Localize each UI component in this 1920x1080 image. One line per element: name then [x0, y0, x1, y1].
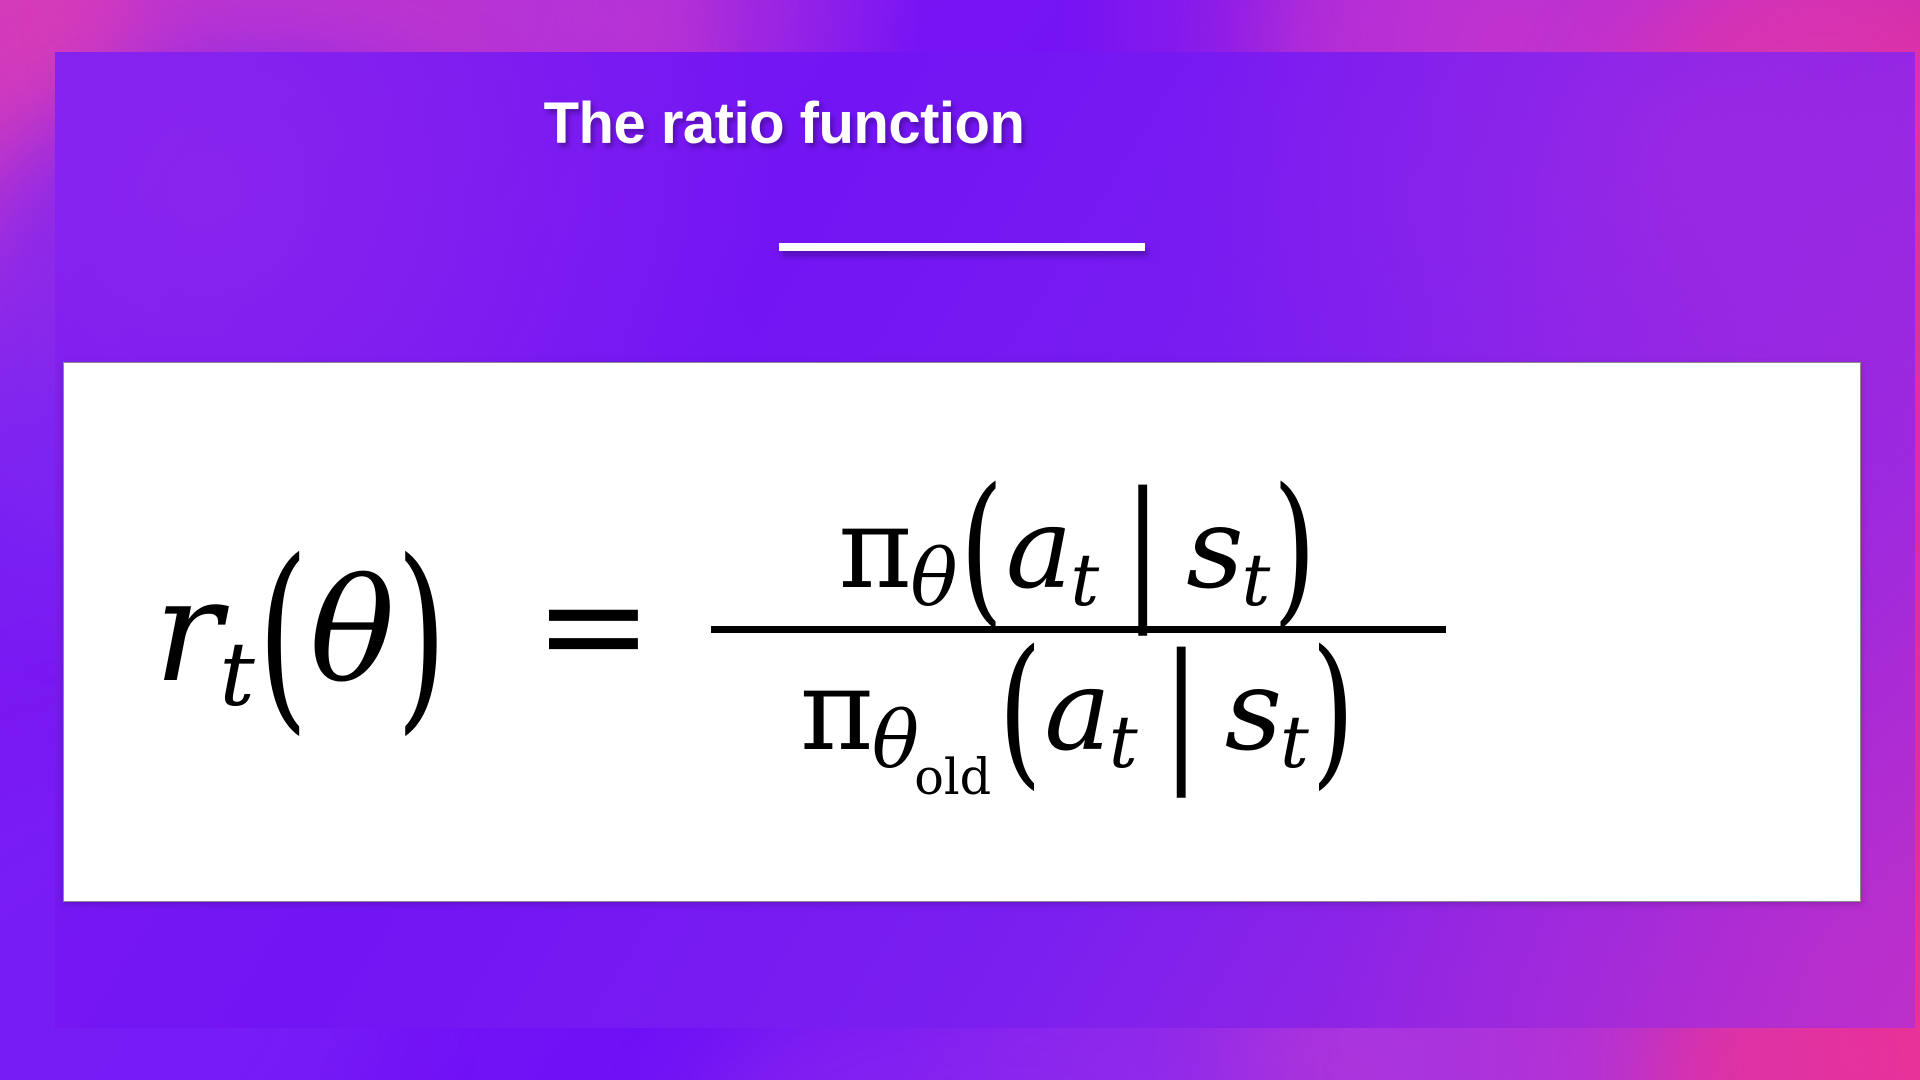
numerator-action-subscript: t — [1070, 542, 1099, 619]
denominator-conditional-bar: | — [1162, 629, 1200, 792]
numerator-state-symbol: s — [1186, 489, 1243, 610]
slide-root: The ratio function rt(θ) = πθ(at|st) πθo… — [0, 0, 1920, 1080]
page-title: The ratio function — [0, 90, 1568, 157]
numerator-open-paren: ( — [960, 461, 1004, 636]
function-subscript: t — [219, 631, 255, 719]
denominator-policy-symbol: π — [800, 651, 874, 772]
lhs-close-paren: ) — [396, 534, 448, 736]
title-divider-rule — [779, 243, 1145, 251]
denominator-policy-subscript: θ — [872, 699, 919, 784]
equals-sign: = — [534, 555, 653, 697]
fraction-numerator: πθ(at|st) — [822, 489, 1334, 626]
formula-card: rt(θ) = πθ(at|st) πθold(at|st) — [63, 362, 1861, 902]
fraction-denominator: πθold(at|st) — [784, 633, 1373, 772]
denominator-close-paren: ) — [1311, 623, 1355, 798]
numerator-policy-subscript: θ — [910, 537, 957, 622]
denominator-action-subscript: t — [1109, 704, 1138, 781]
denominator-action-symbol: a — [1044, 651, 1111, 772]
denominator-old-subscript: old — [914, 751, 991, 804]
lhs-open-paren: ( — [258, 534, 310, 736]
equation-left-hand-side: rt(θ) — [154, 561, 448, 703]
function-name: r — [154, 561, 223, 703]
denominator-open-paren: ( — [998, 623, 1042, 798]
denominator-state-subscript: t — [1280, 704, 1309, 781]
numerator-state-subscript: t — [1242, 542, 1271, 619]
numerator-action-symbol: a — [1006, 489, 1073, 610]
numerator-policy-symbol: π — [838, 489, 912, 610]
denominator-state-symbol: s — [1225, 651, 1282, 772]
numerator-close-paren: ) — [1273, 461, 1317, 636]
ratio-fraction: πθ(at|st) πθold(at|st) — [711, 489, 1446, 772]
theta-argument: θ — [309, 561, 396, 703]
ratio-function-equation: rt(θ) = πθ(at|st) πθold(at|st) — [154, 491, 1446, 774]
numerator-conditional-bar: | — [1124, 467, 1162, 630]
